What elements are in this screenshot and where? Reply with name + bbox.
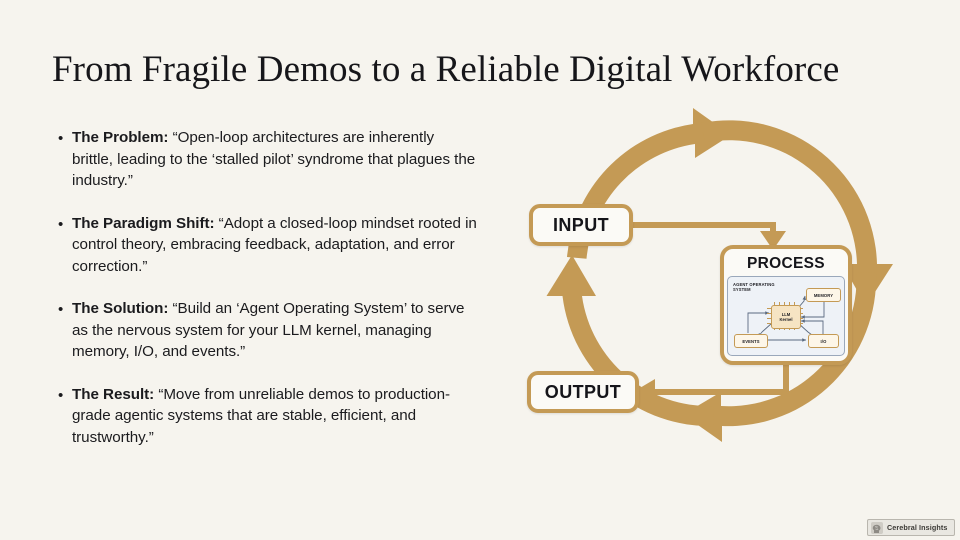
bullet-label: The Paradigm Shift:: [72, 215, 215, 232]
list-item: • The Problem: “Open-loop architectures …: [58, 127, 478, 192]
memory-box[interactable]: MEMORY: [806, 288, 841, 302]
bullet-marker: •: [58, 128, 72, 149]
bullet-marker: •: [58, 299, 72, 320]
bullet-text: The Result: “Move from unreliable demos …: [72, 384, 478, 449]
node-output[interactable]: OUTPUT: [527, 371, 639, 413]
bullet-label: The Result:: [72, 386, 154, 403]
io-box[interactable]: I/O: [808, 334, 839, 348]
llm-kernel-chip[interactable]: LLM Kernel: [771, 305, 801, 329]
closed-loop-diagram: INPUT OUTPUT PROCESS AGENT OPERATING SYS…: [505, 100, 955, 520]
bullet-text: The Paradigm Shift: “Adopt a closed-loop…: [72, 213, 478, 278]
bullet-marker: •: [58, 385, 72, 406]
page-title: From Fragile Demos to a Reliable Digital…: [52, 48, 932, 91]
bullet-label: The Solution:: [72, 300, 168, 317]
node-process-label: PROCESS: [747, 255, 825, 273]
events-box[interactable]: EVENTS: [734, 334, 768, 348]
llm-kernel-line2: Kernel: [779, 317, 792, 322]
node-input[interactable]: INPUT: [529, 204, 633, 246]
list-item: • The Paradigm Shift: “Adopt a closed-lo…: [58, 213, 478, 278]
node-output-label: OUTPUT: [545, 382, 621, 403]
bullet-text: The Solution: “Build an ‘Agent Operating…: [72, 298, 478, 363]
io-box-label: I/O: [821, 339, 827, 344]
bullet-text: The Problem: “Open-loop architectures ar…: [72, 127, 478, 192]
node-input-label: INPUT: [553, 215, 609, 236]
bullet-list: • The Problem: “Open-loop architectures …: [58, 127, 478, 469]
slide-canvas: From Fragile Demos to a Reliable Digital…: [0, 0, 960, 540]
list-item: • The Solution: “Build an ‘Agent Operati…: [58, 298, 478, 363]
brain-head-icon: [871, 522, 883, 534]
watermark-badge: Cerebral Insights: [867, 519, 955, 536]
memory-box-label: MEMORY: [814, 293, 833, 298]
events-box-label: EVENTS: [742, 339, 759, 344]
bullet-marker: •: [58, 214, 72, 235]
list-item: • The Result: “Move from unreliable demo…: [58, 384, 478, 449]
node-process[interactable]: PROCESS AGENT OPERATING SYSTEM: [720, 245, 852, 365]
watermark-text: Cerebral Insights: [887, 523, 947, 532]
bullet-label: The Problem:: [72, 129, 168, 146]
agent-operating-system-panel: AGENT OPERATING SYSTEM: [727, 276, 845, 356]
